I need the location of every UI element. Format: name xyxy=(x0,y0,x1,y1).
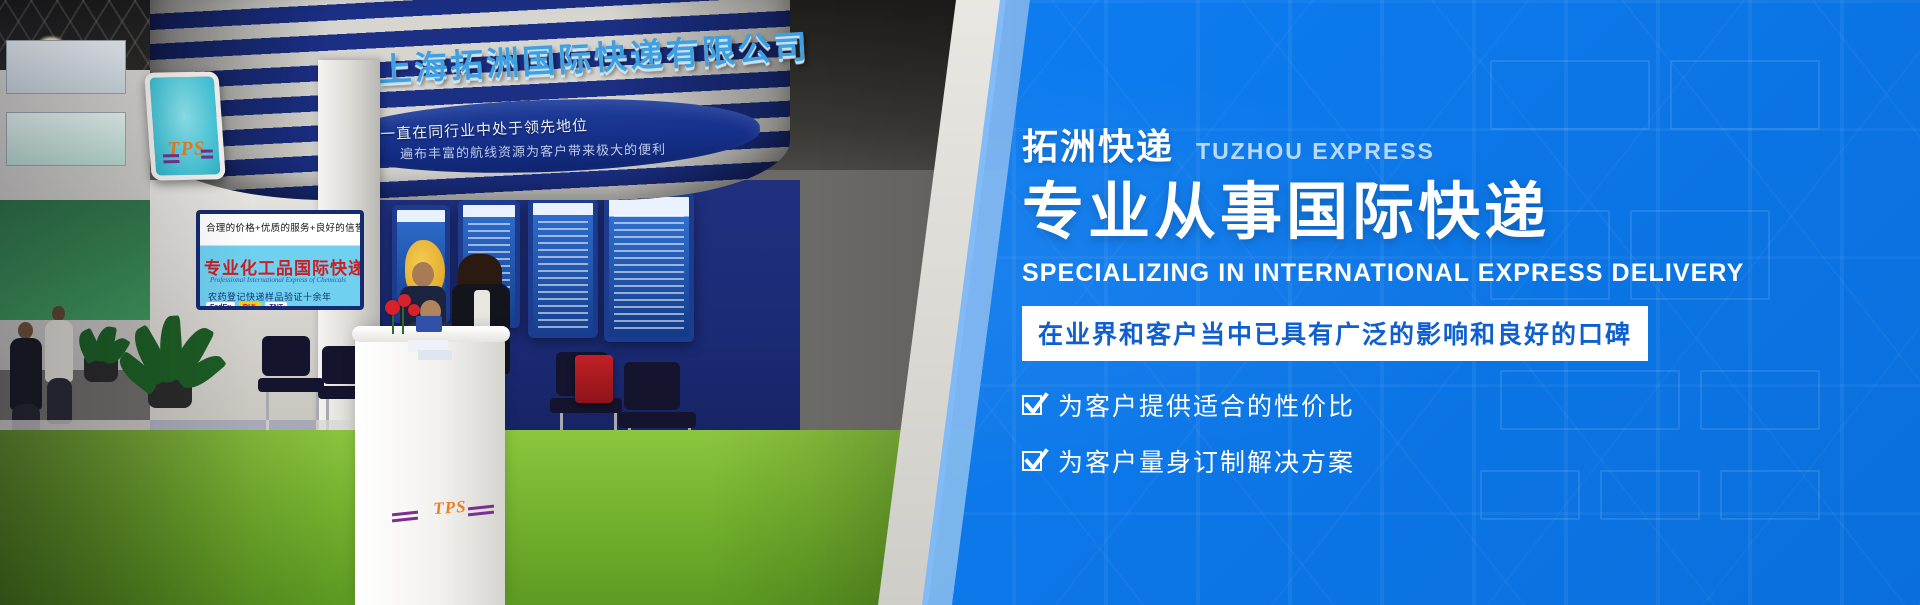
brand-line: 拓洲快递 TUZHOU EXPRESS xyxy=(1022,118,1902,170)
feature-bullet-item: 为客户提供适合的性价比 xyxy=(1022,387,1902,423)
brand-name-en: TUZHOU EXPRESS xyxy=(1196,138,1435,165)
checkbox-checked-icon xyxy=(1022,451,1042,471)
highlight-text: 在业界和客户当中已具有广泛的影响和良好的口碑 xyxy=(1038,322,1632,349)
banner-content: 拓洲快递 TUZHOU EXPRESS 专业从事国际快递 SPECIALIZIN… xyxy=(1022,118,1902,479)
feature-bullet-label: 为客户提供适合的性价比 xyxy=(1058,387,1355,423)
promo-banner: 上海拓洲国际快递有限公司 服务一直在同行业中处于领先地位 遍布丰富的航线资源为客… xyxy=(0,0,1920,605)
highlight-box: 在业界和客户当中已具有广泛的影响和良好的口碑 xyxy=(1022,306,1648,361)
brand-name-cn: 拓洲快递 xyxy=(1022,118,1174,170)
banner-headline: 专业从事国际快递 xyxy=(1022,180,1902,247)
checkbox-checked-icon xyxy=(1022,395,1042,415)
feature-bullet-label: 为客户量身订制解决方案 xyxy=(1058,443,1355,479)
feature-bullet-item: 为客户量身订制解决方案 xyxy=(1022,443,1902,479)
photo-color-grade xyxy=(0,0,1010,605)
banner-subheadline: SPECIALIZING IN INTERNATIONAL EXPRESS DE… xyxy=(1022,259,1902,288)
feature-bullet-list: 为客户提供适合的性价比 为客户量身订制解决方案 xyxy=(1022,387,1902,479)
booth-photo: 上海拓洲国际快递有限公司 服务一直在同行业中处于领先地位 遍布丰富的航线资源为客… xyxy=(0,0,1010,605)
